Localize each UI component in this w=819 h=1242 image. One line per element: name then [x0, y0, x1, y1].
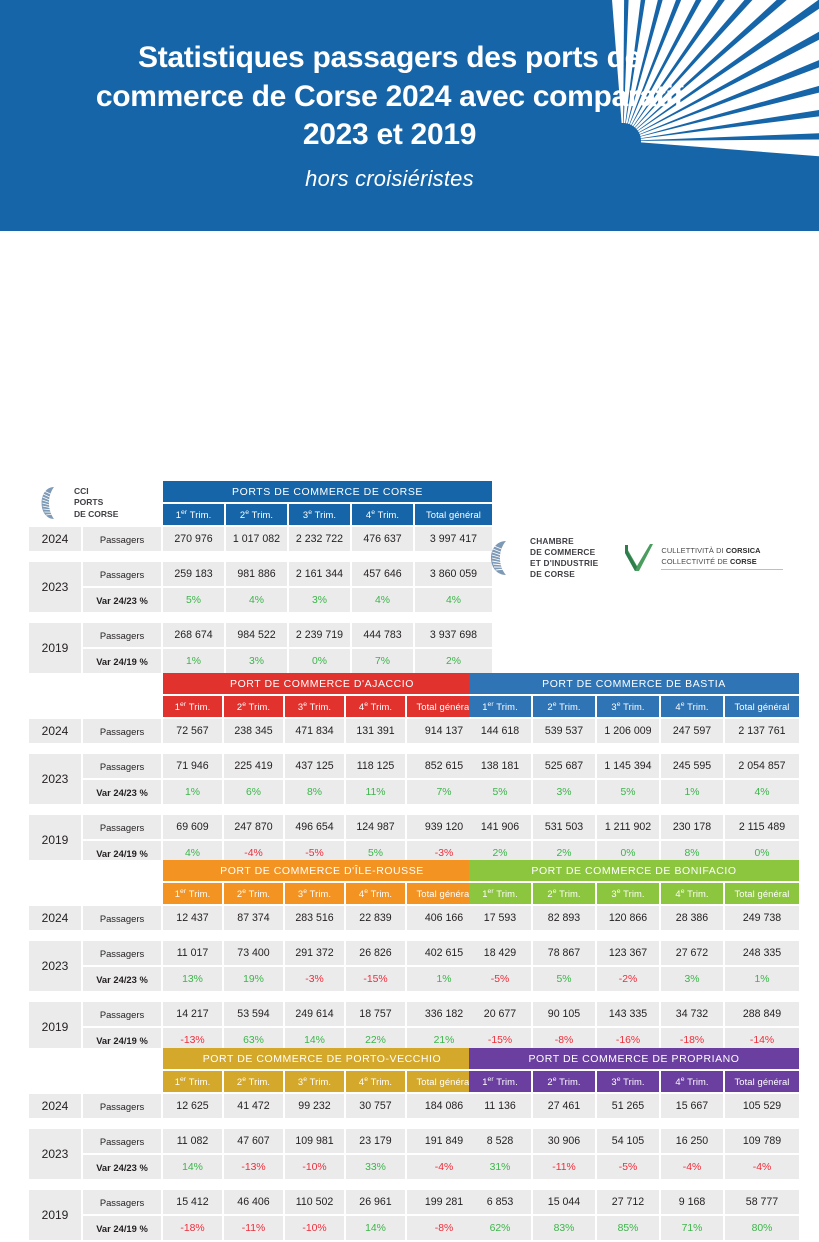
- cell-percent: -15%: [346, 967, 405, 991]
- page-title: Statistiques passagers des ports de comm…: [70, 39, 750, 155]
- cell-value: 268 674: [163, 623, 224, 647]
- cell-percent: 4%: [415, 588, 492, 612]
- column-header-q2: 2e Trim.: [226, 504, 287, 525]
- cell-value: 525 687: [533, 754, 595, 778]
- row-var-24-23: Var 24/23 %5%4%3%4%4%: [29, 588, 492, 612]
- cell-percent: 83%: [533, 1216, 595, 1240]
- cell-percent: -3%: [285, 967, 344, 991]
- table-port-de-commerce-de-bastia: PORT DE COMMERCE DE BASTIA1er Trim.2e Tr…: [467, 671, 801, 867]
- cell-percent: 85%: [597, 1216, 659, 1240]
- cell-value: 41 472: [224, 1094, 283, 1118]
- col-trim: Trim.: [375, 509, 399, 520]
- row-label: Var 24/19 %: [83, 649, 161, 673]
- col-trim: Trim.: [368, 888, 392, 899]
- spacer-cell: [29, 883, 161, 904]
- table-title: PORT DE COMMERCE D'AJACCIO: [163, 673, 481, 694]
- row-var-24-19: Var 24/19 %1%3%0%7%2%: [29, 649, 492, 673]
- cell-percent: 7%: [352, 649, 413, 673]
- row-spacer: [29, 1181, 481, 1188]
- row-label: Passagers: [83, 754, 161, 778]
- cci-ports-de-corse-logo: CCIPORTSDE CORSE: [29, 481, 161, 525]
- column-header-q2: 2e Trim.: [224, 696, 283, 717]
- column-header-q3: 3e Trim.: [285, 883, 344, 904]
- row-spacer: [469, 1181, 799, 1188]
- col-trim: Trim.: [685, 1076, 709, 1087]
- row-label: Passagers: [83, 623, 161, 647]
- row-2019-passagers: 6 85315 04427 7129 16858 777: [469, 1190, 799, 1214]
- row-var-24-23: 5%3%5%1%4%: [469, 780, 799, 804]
- cci-swirl-icon: [490, 540, 522, 576]
- col-trim: Trim.: [494, 1076, 518, 1087]
- row-2023-passagers: 2023Passagers11 01773 400291 37226 82640…: [29, 941, 481, 965]
- row-2024-passagers: 2024Passagers270 9761 017 0822 232 72247…: [29, 527, 492, 551]
- column-header-total: Total général: [725, 883, 799, 904]
- cell-value: 225 419: [224, 754, 283, 778]
- spacer-cell: [29, 696, 161, 717]
- cell-percent: -13%: [224, 1155, 283, 1179]
- cell-value: 58 777: [725, 1190, 799, 1214]
- column-header-q2: 2e Trim.: [533, 696, 595, 717]
- cell-value: 144 618: [469, 719, 531, 743]
- coll-line1-bold: CORSICA: [726, 546, 761, 555]
- cell-value: 476 637: [352, 527, 413, 551]
- row-spacer: [469, 993, 799, 1000]
- brand-line-3: DE CORSE: [74, 509, 118, 520]
- col-trim: Trim.: [307, 701, 331, 712]
- column-header-q1: 1er Trim.: [469, 696, 531, 717]
- row-var-24-23: Var 24/23 %13%19%-3%-15%1%: [29, 967, 481, 991]
- row-2019-passagers: 2019Passagers14 21753 594249 61418 75733…: [29, 1002, 481, 1026]
- cell-value: 437 125: [285, 754, 344, 778]
- table-title-row: PORT DE COMMERCE D'AJACCIO: [29, 673, 481, 694]
- year-label: 2023: [29, 562, 81, 612]
- year-label: 2024: [29, 527, 81, 551]
- cell-value: 138 181: [469, 754, 531, 778]
- cell-percent: 1%: [725, 967, 799, 991]
- cell-value: 12 625: [163, 1094, 222, 1118]
- column-header-q1: 1er Trim.: [163, 504, 224, 525]
- table-title: PORT DE COMMERCE DE BONIFACIO: [469, 860, 799, 881]
- cell-value: 2 054 857: [725, 754, 799, 778]
- cell-percent: -4%: [725, 1155, 799, 1179]
- table-block-porto-vecchio: PORT DE COMMERCE DE PORTO-VECCHIO1er Tri…: [27, 1046, 483, 1242]
- column-header-q3: 3e Trim.: [597, 1071, 659, 1092]
- cell-value: 124 987: [346, 815, 405, 839]
- cell-percent: -18%: [163, 1216, 222, 1240]
- cell-value: 1 017 082: [226, 527, 287, 551]
- cell-value: 131 391: [346, 719, 405, 743]
- cell-value: 71 946: [163, 754, 222, 778]
- col-trim: Trim.: [246, 888, 270, 899]
- cell-value: 78 867: [533, 941, 595, 965]
- cell-percent: 3%: [533, 780, 595, 804]
- check-mark-icon: [622, 541, 656, 575]
- column-header-q2: 2e Trim.: [224, 1071, 283, 1092]
- table-title: PORTS DE COMMERCE DE CORSE: [163, 481, 492, 502]
- cell-percent: 3%: [661, 967, 723, 991]
- row-2023-passagers: 2023Passagers11 08247 607109 98123 17919…: [29, 1129, 481, 1153]
- cell-percent: -11%: [224, 1216, 283, 1240]
- row-var-24-19: 62%83%85%71%80%: [469, 1216, 799, 1240]
- spacer-cell: [29, 1071, 161, 1092]
- column-header-q1: 1er Trim.: [163, 1071, 222, 1092]
- table-title-row: PORT DE COMMERCE DE BONIFACIO: [469, 860, 799, 881]
- cell-percent: 4%: [226, 588, 287, 612]
- cell-percent: 5%: [597, 780, 659, 804]
- year-label: 2019: [29, 1002, 81, 1052]
- year-label: 2024: [29, 906, 81, 930]
- column-header-q3: 3e Trim.: [289, 504, 350, 525]
- cell-percent: 4%: [725, 780, 799, 804]
- cell-percent: 19%: [224, 967, 283, 991]
- cell-value: 2 115 489: [725, 815, 799, 839]
- chambre-de-commerce-logo: CHAMBRE DE COMMERCE ET D'INDUSTRIE DE CO…: [490, 536, 598, 580]
- row-spacer: [469, 1120, 799, 1127]
- logo-line-3: ET D'INDUSTRIE: [530, 558, 598, 569]
- cell-percent: -5%: [597, 1155, 659, 1179]
- cell-value: 47 607: [224, 1129, 283, 1153]
- row-2024-passagers: 17 59382 893120 86628 386249 738: [469, 906, 799, 930]
- column-header-q4: 4e Trim.: [346, 883, 405, 904]
- cell-percent: 14%: [346, 1216, 405, 1240]
- col-trim: Trim.: [368, 1076, 392, 1087]
- cell-value: 496 654: [285, 815, 344, 839]
- page-header: Statistiques passagers des ports de comm…: [0, 0, 819, 231]
- cell-percent: 3%: [226, 649, 287, 673]
- cell-value: 109 789: [725, 1129, 799, 1153]
- column-header-q4: 4e Trim.: [352, 504, 413, 525]
- col-trim: Trim.: [186, 1076, 210, 1087]
- cell-value: 2 232 722: [289, 527, 350, 551]
- page-subtitle: hors croisiéristes: [305, 166, 514, 192]
- cell-value: 291 372: [285, 941, 344, 965]
- cell-value: 3 860 059: [415, 562, 492, 586]
- row-2019-passagers: 2019Passagers15 41246 406110 50226 96119…: [29, 1190, 481, 1214]
- cell-value: 984 522: [226, 623, 287, 647]
- cell-value: 123 367: [597, 941, 659, 965]
- row-spacer: [29, 614, 492, 621]
- cell-value: 8 528: [469, 1129, 531, 1153]
- row-label: Passagers: [83, 719, 161, 743]
- cell-value: 230 178: [661, 815, 723, 839]
- cell-value: 18 429: [469, 941, 531, 965]
- collectivite-logo-text: CULLETTIVITÀ DI CORSICA COLLECTIVITÉ DE …: [661, 546, 783, 569]
- column-header-q1: 1er Trim.: [469, 1071, 531, 1092]
- cell-value: 23 179: [346, 1129, 405, 1153]
- col-trim: Trim.: [557, 888, 581, 899]
- cell-value: 457 646: [352, 562, 413, 586]
- cell-value: 15 667: [661, 1094, 723, 1118]
- cell-percent: -11%: [533, 1155, 595, 1179]
- cell-value: 1 211 902: [597, 815, 659, 839]
- cell-value: 26 961: [346, 1190, 405, 1214]
- cell-percent: 1%: [661, 780, 723, 804]
- cell-percent: 80%: [725, 1216, 799, 1240]
- cell-value: 247 870: [224, 815, 283, 839]
- cell-percent: 1%: [163, 780, 222, 804]
- table-title-row: PORT DE COMMERCE DE PORTO-VECCHIO: [29, 1048, 481, 1069]
- logo-line-2: DE COMMERCE: [530, 547, 598, 558]
- cell-value: 27 672: [661, 941, 723, 965]
- col-trim: Trim.: [557, 701, 581, 712]
- col-trim: Trim.: [685, 888, 709, 899]
- cell-value: 105 529: [725, 1094, 799, 1118]
- logo-row: CHAMBRE DE COMMERCE ET D'INDUSTRIE DE CO…: [490, 536, 783, 580]
- row-label: Var 24/23 %: [83, 967, 161, 991]
- cell-value: 82 893: [533, 906, 595, 930]
- table-title: PORT DE COMMERCE DE BASTIA: [469, 673, 799, 694]
- col-trim: Trim.: [186, 888, 210, 899]
- row-2023-passagers: 8 52830 90654 10516 250109 789: [469, 1129, 799, 1153]
- table-title: PORT DE COMMERCE DE PORTO-VECCHIO: [163, 1048, 481, 1069]
- row-2019-passagers: 2019Passagers69 609247 870496 654124 987…: [29, 815, 481, 839]
- cell-value: 30 906: [533, 1129, 595, 1153]
- row-2024-passagers: 2024Passagers72 567238 345471 834131 391…: [29, 719, 481, 743]
- cell-value: 249 738: [725, 906, 799, 930]
- row-label: Passagers: [83, 527, 161, 551]
- cell-value: 11 082: [163, 1129, 222, 1153]
- row-var-24-23: Var 24/23 %14%-13%-10%33%-4%: [29, 1155, 481, 1179]
- row-label: Passagers: [83, 1129, 161, 1153]
- cell-value: 9 168: [661, 1190, 723, 1214]
- table-header-row: 1er Trim.2e Trim.3e Trim.4e Trim.Total g…: [469, 883, 799, 904]
- table-header-row: 1er Trim.2e Trim.3e Trim.4e Trim.Total g…: [469, 696, 799, 717]
- column-header-q3: 3e Trim.: [597, 883, 659, 904]
- cell-value: 2 161 344: [289, 562, 350, 586]
- coll-line2-light: COLLECTIVITÉ: [661, 557, 717, 566]
- row-2024-passagers: 144 618539 5371 206 009247 5972 137 761: [469, 719, 799, 743]
- row-2023-passagers: 18 42978 867123 36727 672248 335: [469, 941, 799, 965]
- cell-percent: 5%: [163, 588, 224, 612]
- cell-value: 54 105: [597, 1129, 659, 1153]
- table-block-bonifacio: PORT DE COMMERCE DE BONIFACIO1er Trim.2e…: [467, 858, 801, 1054]
- cell-percent: 1%: [163, 649, 224, 673]
- cell-value: 539 537: [533, 719, 595, 743]
- row-spacer: [29, 932, 481, 939]
- row-spacer: [469, 806, 799, 813]
- table-block-corse: CCIPORTSDE CORSEPORTS DE COMMERCE DE COR…: [27, 479, 494, 675]
- cell-value: 1 206 009: [597, 719, 659, 743]
- cci-swirl-icon: [41, 486, 67, 520]
- row-spacer: [29, 745, 481, 752]
- cell-percent: 31%: [469, 1155, 531, 1179]
- cell-percent: 11%: [346, 780, 405, 804]
- cell-percent: 2%: [415, 649, 492, 673]
- cell-value: 30 757: [346, 1094, 405, 1118]
- coll-line2-bold: CORSE: [730, 557, 757, 566]
- cell-percent: 6%: [224, 780, 283, 804]
- column-header-total: Total général: [725, 696, 799, 717]
- coll-line1-light: CULLETTIVITÀ: [661, 546, 716, 555]
- cell-value: 471 834: [285, 719, 344, 743]
- row-2024-passagers: 2024Passagers12 62541 47299 23230 757184…: [29, 1094, 481, 1118]
- cell-value: 245 595: [661, 754, 723, 778]
- table-header-row: 1er Trim.2e Trim.3e Trim.4e Trim.Total g…: [29, 883, 481, 904]
- col-trim: Trim.: [249, 509, 273, 520]
- cell-value: 34 732: [661, 1002, 723, 1026]
- row-label: Passagers: [83, 906, 161, 930]
- row-label: Var 24/23 %: [83, 588, 161, 612]
- cell-value: 18 757: [346, 1002, 405, 1026]
- cell-value: 15 412: [163, 1190, 222, 1214]
- column-header-q1: 1er Trim.: [163, 696, 222, 717]
- cell-percent: 4%: [352, 588, 413, 612]
- cell-percent: -10%: [285, 1155, 344, 1179]
- row-spacer: [29, 553, 492, 560]
- row-label: Var 24/19 %: [83, 1216, 161, 1240]
- cell-value: 110 502: [285, 1190, 344, 1214]
- column-header-total: Total général: [415, 504, 492, 525]
- row-label: Passagers: [83, 815, 161, 839]
- row-label: Passagers: [83, 1002, 161, 1026]
- cell-value: 22 839: [346, 906, 405, 930]
- column-header-q4: 4e Trim.: [661, 696, 723, 717]
- cell-value: 2 137 761: [725, 719, 799, 743]
- col-trim: Trim.: [621, 1076, 645, 1087]
- col-trim: Trim.: [246, 701, 270, 712]
- cell-value: 6 853: [469, 1190, 531, 1214]
- row-var-24-23: 31%-11%-5%-4%-4%: [469, 1155, 799, 1179]
- cell-value: 3 997 417: [415, 527, 492, 551]
- cell-value: 444 783: [352, 623, 413, 647]
- cell-value: 283 516: [285, 906, 344, 930]
- cell-value: 20 677: [469, 1002, 531, 1026]
- cell-percent: 33%: [346, 1155, 405, 1179]
- row-var-24-23: Var 24/23 %1%6%8%11%7%: [29, 780, 481, 804]
- cell-value: 143 335: [597, 1002, 659, 1026]
- cell-value: 53 594: [224, 1002, 283, 1026]
- cell-percent: 3%: [289, 588, 350, 612]
- brand-line-2: PORTS: [74, 497, 118, 508]
- column-header-q2: 2e Trim.: [224, 883, 283, 904]
- cell-value: 73 400: [224, 941, 283, 965]
- col-trim: Trim.: [494, 888, 518, 899]
- cell-value: 2 239 719: [289, 623, 350, 647]
- row-spacer: [469, 745, 799, 752]
- table-port-de-commerce-de-bonifacio: PORT DE COMMERCE DE BONIFACIO1er Trim.2e…: [467, 858, 801, 1054]
- col-trim: Trim.: [312, 509, 336, 520]
- row-2019-passagers: 20 67790 105143 33534 732288 849: [469, 1002, 799, 1026]
- row-2023-passagers: 2023Passagers259 183981 8862 161 344457 …: [29, 562, 492, 586]
- column-header-q1: 1er Trim.: [469, 883, 531, 904]
- cell-value: 118 125: [346, 754, 405, 778]
- col-trim: Trim.: [307, 1076, 331, 1087]
- cell-value: 27 712: [597, 1190, 659, 1214]
- row-2024-passagers: 11 13627 46151 26515 667105 529: [469, 1094, 799, 1118]
- row-2023-passagers: 138 181525 6871 145 394245 5952 054 857: [469, 754, 799, 778]
- column-header-q3: 3e Trim.: [285, 1071, 344, 1092]
- table-block-ile-rousse: PORT DE COMMERCE D'ÎLE-ROUSSE1er Trim.2e…: [27, 858, 483, 1054]
- col-trim: Trim.: [246, 1076, 270, 1087]
- cell-value: 249 614: [285, 1002, 344, 1026]
- cell-value: 26 826: [346, 941, 405, 965]
- table-header-row: 1er Trim.2e Trim.3e Trim.4e Trim.Total g…: [29, 1071, 481, 1092]
- row-2019-passagers: 2019Passagers268 674984 5222 239 719444 …: [29, 623, 492, 647]
- cell-value: 248 335: [725, 941, 799, 965]
- row-label: Var 24/23 %: [83, 1155, 161, 1179]
- column-header-q1: 1er Trim.: [163, 883, 222, 904]
- cell-percent: 71%: [661, 1216, 723, 1240]
- table-title-row: CCIPORTSDE CORSEPORTS DE COMMERCE DE COR…: [29, 481, 492, 502]
- table-title-row: PORT DE COMMERCE DE PROPRIANO: [469, 1048, 799, 1069]
- cell-value: 69 609: [163, 815, 222, 839]
- table-ports-de-commerce-de-corse: CCIPORTSDE CORSEPORTS DE COMMERCE DE COR…: [27, 479, 494, 675]
- cell-value: 51 265: [597, 1094, 659, 1118]
- col-trim: Trim.: [368, 701, 392, 712]
- row-spacer: [29, 1120, 481, 1127]
- row-var-24-19: Var 24/19 %-18%-11%-10%14%-8%: [29, 1216, 481, 1240]
- cell-value: 120 866: [597, 906, 659, 930]
- year-label: 2023: [29, 1129, 81, 1179]
- year-label: 2023: [29, 941, 81, 991]
- col-trim: Trim.: [187, 509, 211, 520]
- table-block-bastia: PORT DE COMMERCE DE BASTIA1er Trim.2e Tr…: [467, 671, 801, 867]
- row-label: Passagers: [83, 1190, 161, 1214]
- cell-percent: 14%: [163, 1155, 222, 1179]
- cell-value: 3 937 698: [415, 623, 492, 647]
- logo-line-1: CHAMBRE: [530, 536, 598, 547]
- table-port-de-commerce-de-propriano: PORT DE COMMERCE DE PROPRIANO1er Trim.2e…: [467, 1046, 801, 1242]
- table-title: PORT DE COMMERCE DE PROPRIANO: [469, 1048, 799, 1069]
- cell-value: 259 183: [163, 562, 224, 586]
- column-header-q2: 2e Trim.: [533, 883, 595, 904]
- cell-value: 87 374: [224, 906, 283, 930]
- cell-value: 109 981: [285, 1129, 344, 1153]
- year-label: 2019: [29, 623, 81, 673]
- cell-value: 11 136: [469, 1094, 531, 1118]
- cell-percent: 5%: [469, 780, 531, 804]
- col-trim: Trim.: [685, 701, 709, 712]
- cell-value: 99 232: [285, 1094, 344, 1118]
- column-header-q4: 4e Trim.: [346, 1071, 405, 1092]
- col-trim: Trim.: [186, 701, 210, 712]
- cell-value: 90 105: [533, 1002, 595, 1026]
- row-spacer: [29, 993, 481, 1000]
- row-2023-passagers: 2023Passagers71 946225 419437 125118 125…: [29, 754, 481, 778]
- logo-line-4: DE CORSE: [530, 569, 598, 580]
- column-header-q4: 4e Trim.: [661, 883, 723, 904]
- column-header-q3: 3e Trim.: [285, 696, 344, 717]
- cell-percent: 8%: [285, 780, 344, 804]
- column-header-q2: 2e Trim.: [533, 1071, 595, 1092]
- cell-value: 17 593: [469, 906, 531, 930]
- collectivite-de-corse-logo: CULLETTIVITÀ DI CORSICA COLLECTIVITÉ DE …: [622, 541, 783, 575]
- cell-percent: -4%: [661, 1155, 723, 1179]
- cell-percent: -2%: [597, 967, 659, 991]
- col-trim: Trim.: [557, 1076, 581, 1087]
- cell-percent: 62%: [469, 1216, 531, 1240]
- cell-percent: -5%: [469, 967, 531, 991]
- cell-value: 14 217: [163, 1002, 222, 1026]
- year-label: 2024: [29, 719, 81, 743]
- cell-percent: -10%: [285, 1216, 344, 1240]
- cell-value: 28 386: [661, 906, 723, 930]
- cell-percent: 0%: [289, 649, 350, 673]
- col-trim: Trim.: [621, 701, 645, 712]
- row-label: Var 24/23 %: [83, 780, 161, 804]
- spacer-cell: [29, 860, 161, 881]
- column-header-q4: 4e Trim.: [346, 696, 405, 717]
- coll-line2-small: DE: [717, 557, 730, 566]
- cell-value: 247 597: [661, 719, 723, 743]
- brand-line-1: CCI: [74, 486, 118, 497]
- column-header-q4: 4e Trim.: [661, 1071, 723, 1092]
- row-var-24-23: -5%5%-2%3%1%: [469, 967, 799, 991]
- table-title-row: PORT DE COMMERCE D'ÎLE-ROUSSE: [29, 860, 481, 881]
- cell-value: 46 406: [224, 1190, 283, 1214]
- table-header-row: 1er Trim.2e Trim.3e Trim.4e Trim.Total g…: [29, 696, 481, 717]
- cell-value: 1 145 394: [597, 754, 659, 778]
